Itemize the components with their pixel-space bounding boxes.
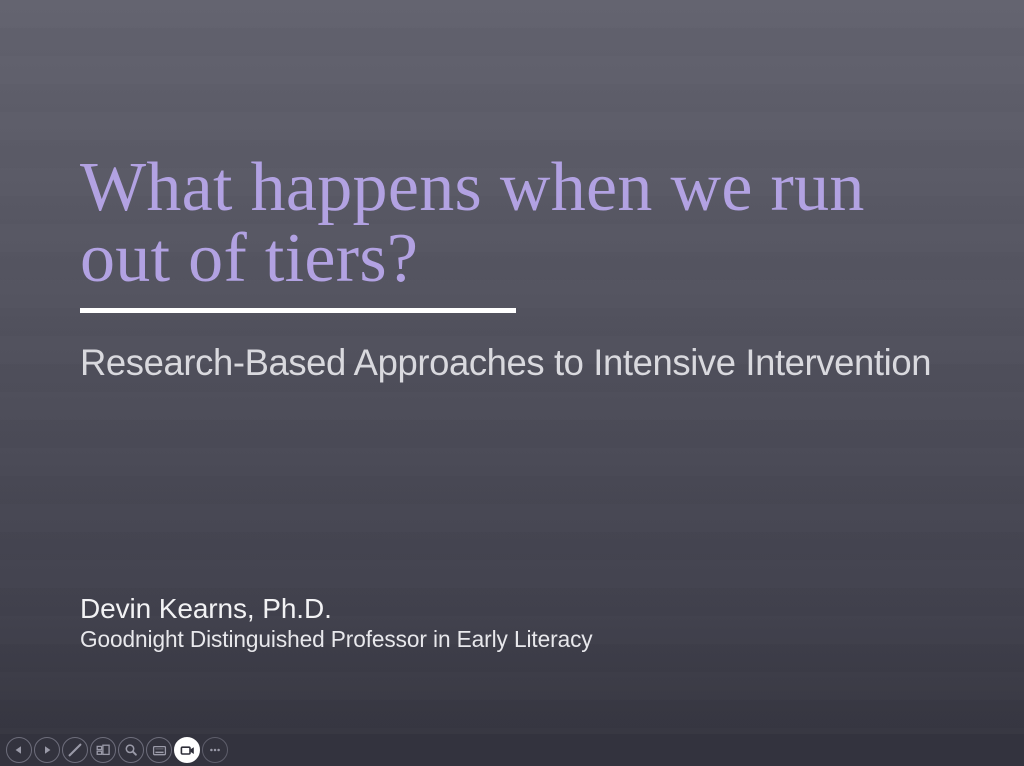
- presenter-role: Goodnight Distinguished Professor in Ear…: [80, 625, 868, 654]
- triangle-right-icon: [41, 744, 53, 756]
- ellipsis-icon: [207, 742, 223, 758]
- zoom-button[interactable]: [118, 737, 144, 763]
- title-divider-rule: [80, 308, 516, 313]
- more-options-button[interactable]: [202, 737, 228, 763]
- pen-tool-button[interactable]: [62, 737, 88, 763]
- video-button[interactable]: [174, 737, 200, 763]
- previous-slide-button[interactable]: [6, 737, 32, 763]
- video-camera-icon: [179, 742, 196, 759]
- slide-canvas: What happens when we run out of tiers? R…: [0, 0, 1024, 766]
- magnifier-icon: [123, 742, 139, 758]
- presenter-screen-icon: [151, 742, 168, 759]
- pen-icon: [66, 741, 84, 759]
- slide-content: What happens when we run out of tiers? R…: [80, 0, 990, 766]
- triangle-left-icon: [13, 744, 25, 756]
- slide-overview-button[interactable]: [90, 737, 116, 763]
- presentation-toolbar: [0, 734, 1024, 766]
- slide-subtitle: Research-Based Approaches to Intensive I…: [80, 340, 976, 386]
- presenter-block: Devin Kearns, Ph.D. Goodnight Distinguis…: [80, 592, 880, 654]
- slide-title: What happens when we run out of tiers?: [80, 152, 985, 294]
- presenter-display-button[interactable]: [146, 737, 172, 763]
- slides-grid-icon: [95, 742, 111, 758]
- next-slide-button[interactable]: [34, 737, 60, 763]
- presentation-window: What happens when we run out of tiers? R…: [0, 0, 1024, 766]
- presenter-name: Devin Kearns, Ph.D.: [80, 592, 880, 625]
